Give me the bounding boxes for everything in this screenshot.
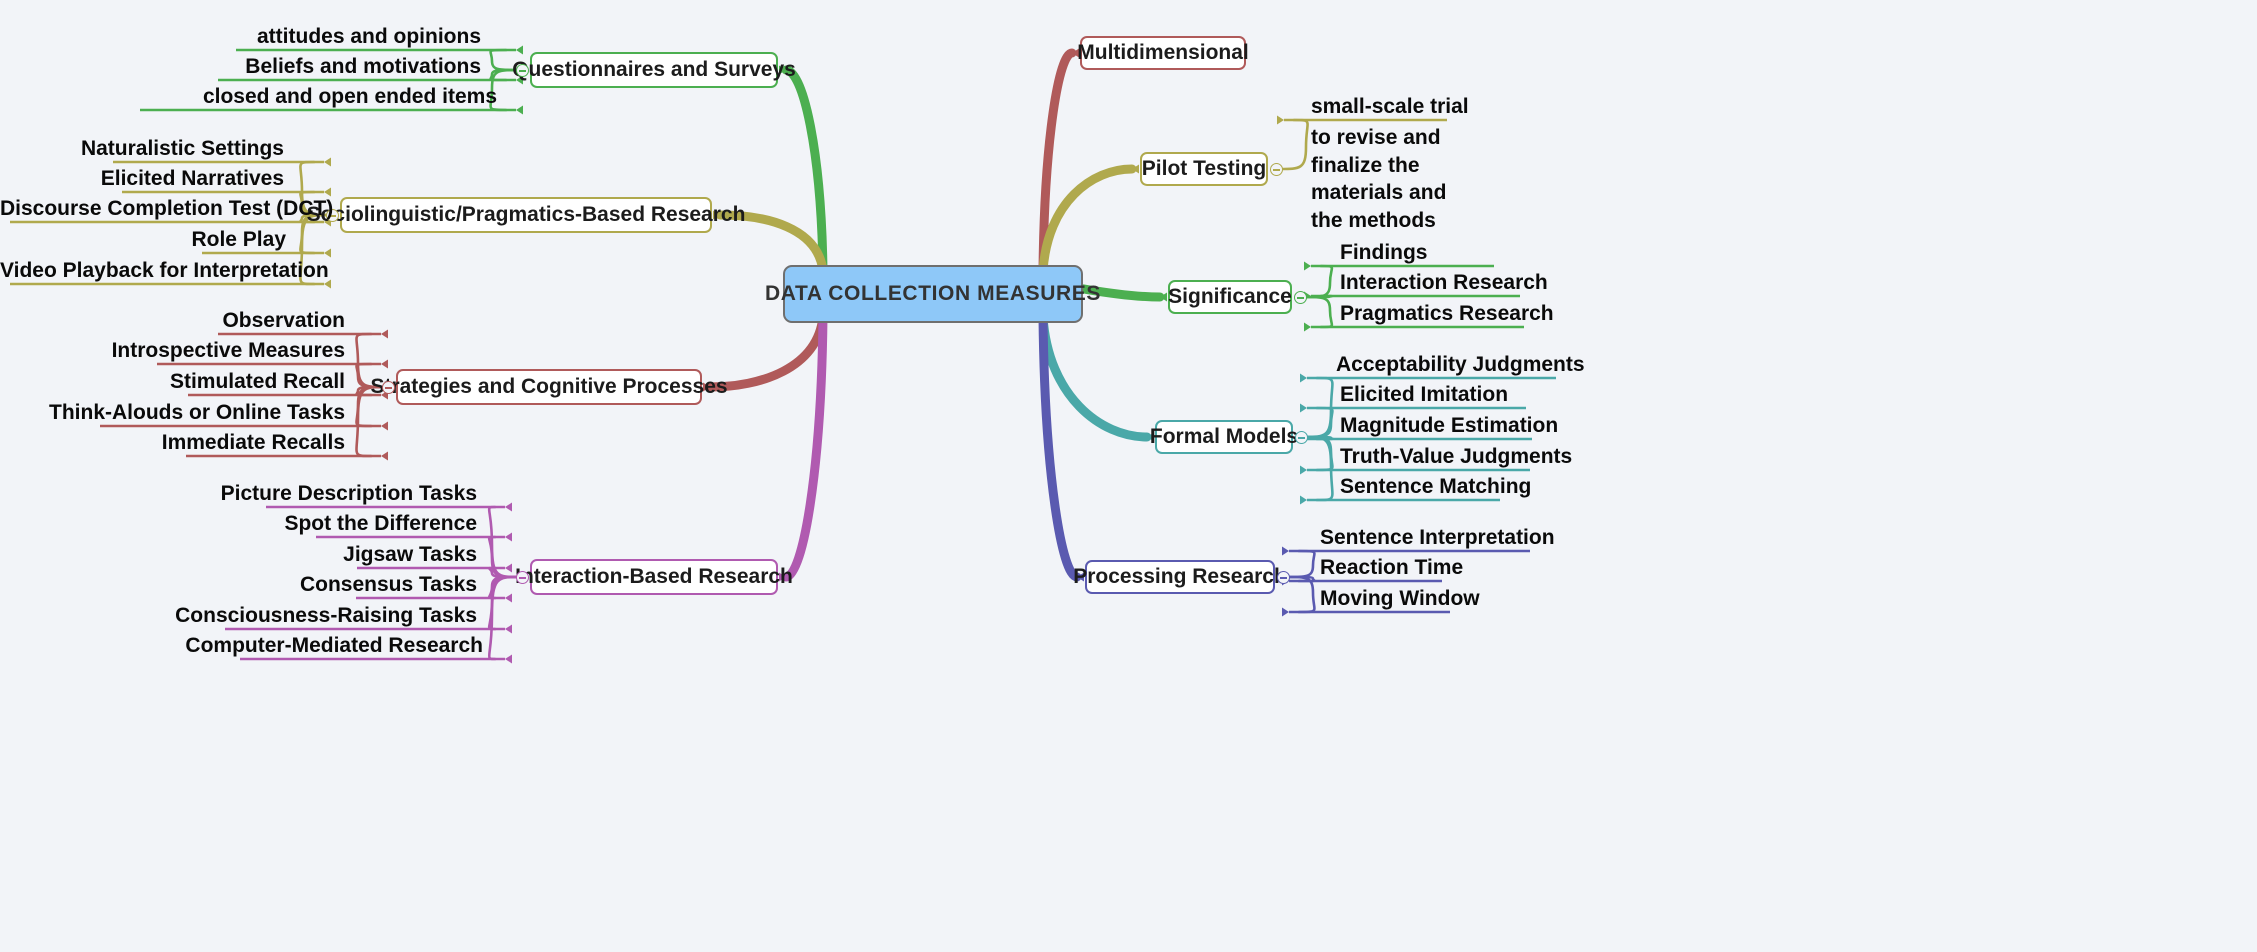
leaf-node-label[interactable]: Consensus Tasks — [0, 574, 477, 595]
leaf-node-label[interactable]: Think-Alouds or Online Tasks — [0, 402, 345, 423]
collapse-toggle-strategies[interactable] — [382, 381, 395, 394]
leaf-node-label[interactable]: Immediate Recalls — [0, 432, 345, 453]
branch-node-label: Interaction-Based Research — [515, 565, 793, 589]
collapse-toggle-processing-research[interactable] — [1277, 571, 1290, 584]
leaf-node-label[interactable]: Video Playback for Interpretation — [0, 260, 291, 281]
leaf-node-label[interactable]: Stimulated Recall — [0, 371, 345, 392]
branch-node-label: Formal Models — [1150, 425, 1298, 449]
minus-icon — [1297, 297, 1304, 299]
branch-node-pilot-testing[interactable]: Pilot Testing — [1140, 152, 1268, 186]
collapse-toggle-questionnaires[interactable] — [516, 64, 529, 77]
leaf-node-label[interactable]: attitudes and opinions — [0, 26, 481, 47]
leaf-node-label[interactable]: Discourse Completion Test (DCT) — [0, 198, 322, 219]
leaf-node-label[interactable]: small-scale trial — [1311, 96, 1469, 117]
branch-node-multidimensional[interactable]: Multidimensional — [1080, 36, 1246, 70]
root-node-label: DATA COLLECTION MEASURES — [765, 282, 1101, 306]
leaf-node-label[interactable]: Role Play — [0, 229, 286, 250]
minus-icon — [1280, 577, 1287, 579]
leaf-node-label[interactable]: Interaction Research — [1340, 272, 1548, 293]
collapse-toggle-interaction[interactable] — [516, 571, 529, 584]
minus-icon — [1273, 169, 1280, 171]
leaf-node-label[interactable]: Elicited Imitation — [1340, 384, 1508, 405]
leaf-node-label[interactable]: Elicited Narratives — [0, 168, 284, 189]
leaf-node-label[interactable]: Computer-Mediated Research — [0, 635, 483, 656]
mindmap-canvas: DATA COLLECTION MEASURESQuestionnaires a… — [0, 0, 2257, 952]
leaf-node-label[interactable]: Moving Window — [1320, 588, 1480, 609]
branch-node-label: Questionnaires and Surveys — [512, 58, 796, 82]
leaf-node-label[interactable]: Beliefs and motivations — [0, 56, 481, 77]
leaf-node-label[interactable]: Sentence Matching — [1340, 476, 1531, 497]
branch-node-processing-research[interactable]: Processing Research — [1085, 560, 1275, 594]
branch-node-label: Processing Research — [1073, 565, 1287, 589]
leaf-node-label[interactable]: Jigsaw Tasks — [0, 544, 477, 565]
leaf-node-label[interactable]: Truth-Value Judgments — [1340, 446, 1572, 467]
leaf-node-label[interactable]: Magnitude Estimation — [1340, 415, 1558, 436]
minus-icon — [1298, 437, 1305, 439]
minus-icon — [519, 70, 526, 72]
leaf-node-label[interactable]: Consciousness-Raising Tasks — [0, 605, 477, 626]
leaf-node-label[interactable]: Naturalistic Settings — [0, 138, 284, 159]
branch-node-sociolinguistic[interactable]: Sociolinguistic/Pragmatics-Based Researc… — [340, 197, 712, 233]
leaf-node-label[interactable]: Observation — [0, 310, 345, 331]
leaf-node-label[interactable]: to revise and finalize the materials and… — [1311, 124, 1471, 235]
branch-node-label: Strategies and Cognitive Processes — [370, 375, 727, 399]
branch-node-strategies[interactable]: Strategies and Cognitive Processes — [396, 369, 702, 405]
minus-icon — [519, 577, 526, 579]
leaf-node-label[interactable]: Picture Description Tasks — [0, 483, 477, 504]
leaf-node-label[interactable]: Sentence Interpretation — [1320, 527, 1555, 548]
branch-node-label: Multidimensional — [1077, 41, 1249, 65]
leaf-node-label[interactable]: Acceptability Judgments — [1336, 354, 1585, 375]
collapse-toggle-significance[interactable] — [1294, 291, 1307, 304]
branch-node-label: Significance — [1168, 285, 1292, 309]
leaf-node-label[interactable]: Pragmatics Research — [1340, 303, 1554, 324]
branch-node-interaction[interactable]: Interaction-Based Research — [530, 559, 778, 595]
branch-node-significance[interactable]: Significance — [1168, 280, 1292, 314]
collapse-toggle-pilot-testing[interactable] — [1270, 163, 1283, 176]
leaf-node-label[interactable]: Spot the Difference — [0, 513, 477, 534]
branch-node-label: Pilot Testing — [1142, 157, 1266, 181]
leaf-node-label[interactable]: Introspective Measures — [0, 340, 345, 361]
branch-node-questionnaires[interactable]: Questionnaires and Surveys — [530, 52, 778, 88]
root-node[interactable]: DATA COLLECTION MEASURES — [783, 265, 1083, 323]
leaf-node-label[interactable]: Reaction Time — [1320, 557, 1463, 578]
minus-icon — [385, 387, 392, 389]
leaf-node-label[interactable]: Findings — [1340, 242, 1428, 263]
collapse-toggle-formal-models[interactable] — [1295, 431, 1308, 444]
branch-node-label: Sociolinguistic/Pragmatics-Based Researc… — [307, 203, 746, 227]
leaf-node-label[interactable]: closed and open ended items — [0, 86, 497, 107]
branch-node-formal-models[interactable]: Formal Models — [1155, 420, 1293, 454]
connector-layer — [0, 0, 2257, 952]
